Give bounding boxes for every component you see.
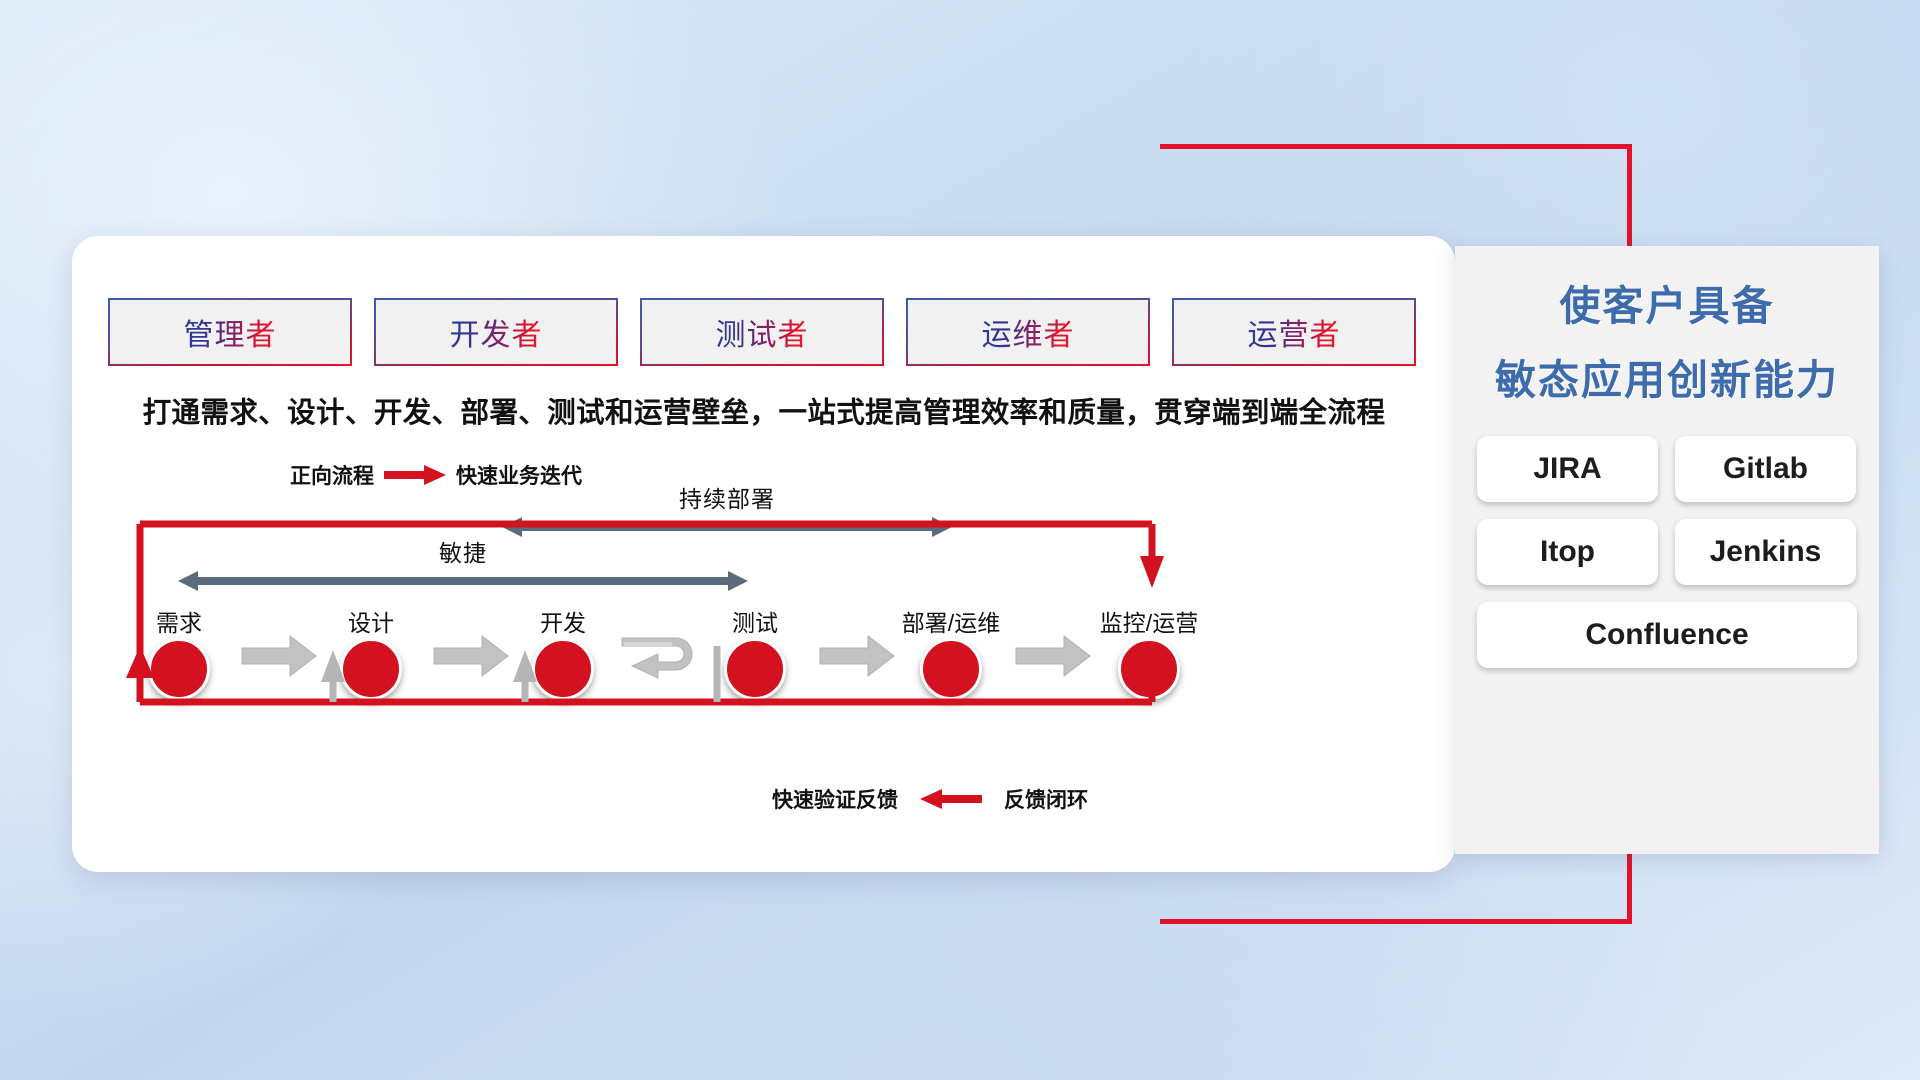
feedback-annotation: 快速验证反馈 反馈闭环 (772, 784, 1088, 814)
tool-chip-confluence[interactable]: Confluence (1477, 602, 1857, 668)
node-dot (532, 638, 594, 700)
pipeline-node-design[interactable]: 设计 (332, 638, 410, 700)
role-box-row: 管理者 开发者 测试者 运维者 运营者 (108, 298, 1416, 366)
pipeline-node-requirements[interactable]: 需求 (140, 638, 218, 700)
tool-chip-gitlab[interactable]: Gitlab (1675, 436, 1856, 502)
role-box-ops[interactable]: 运维者 (906, 298, 1150, 366)
loop-arrow-uturn-icon (618, 626, 714, 690)
node-dot (920, 638, 982, 700)
tool-chip-grid: JIRA Gitlab Itop Jenkins Confluence (1477, 436, 1857, 668)
node-dot (724, 638, 786, 700)
tool-chip-jenkins[interactable]: Jenkins (1675, 519, 1856, 585)
pipeline-node-testing[interactable]: 测试 (716, 638, 794, 700)
pipeline-node-monitor-operations[interactable]: 监控/运营 (1110, 638, 1188, 700)
main-diagram-card: 管理者 开发者 测试者 运维者 运营者 打通需求、设计、开发、部署、测试和运营壁… (72, 236, 1455, 872)
pipeline-node-development[interactable]: 开发 (524, 638, 602, 700)
node-dot (1118, 638, 1180, 700)
node-label: 设计 (348, 604, 394, 638)
span-agile: 敏捷 (178, 534, 748, 597)
double-arrow-horizontal-icon (178, 570, 748, 592)
node-label: 部署/运维 (902, 604, 1000, 638)
arrow-left-red-icon (920, 789, 982, 809)
tool-chip-jira[interactable]: JIRA (1477, 436, 1658, 502)
span-label: 持续部署 (502, 480, 952, 514)
role-box-developer[interactable]: 开发者 (374, 298, 618, 366)
panel-title-line-1: 使客户具备 (1455, 272, 1879, 332)
node-label: 开发 (540, 604, 586, 638)
arrow-right-red-icon (384, 465, 446, 485)
span-label: 敏捷 (178, 534, 748, 568)
tool-chip-itop[interactable]: Itop (1477, 519, 1658, 585)
panel-title-line-2: 敏态应用创新能力 (1455, 346, 1879, 406)
role-box-operations[interactable]: 运营者 (1172, 298, 1416, 366)
node-label: 测试 (732, 604, 778, 638)
pipeline-row: 需求 设计 开发 测试 部署/运维 (112, 614, 1412, 744)
forward-flow-left-label: 正向流程 (290, 460, 374, 490)
node-dot (340, 638, 402, 700)
role-box-tester[interactable]: 测试者 (640, 298, 884, 366)
node-label: 需求 (156, 604, 202, 638)
role-label: 管理者 (184, 310, 277, 354)
pipeline-node-deploy-ops[interactable]: 部署/运维 (912, 638, 990, 700)
headline-text: 打通需求、设计、开发、部署、测试和运营壁垒，一站式提高管理效率和质量，贯穿端到端… (114, 390, 1414, 431)
block-arrow-right-icon (432, 634, 510, 678)
role-label: 测试者 (716, 310, 809, 354)
panel-title: 使客户具备 敏态应用创新能力 (1455, 272, 1879, 406)
feedback-right-label: 反馈闭环 (1004, 784, 1088, 814)
role-label: 运营者 (1248, 310, 1341, 354)
block-arrow-right-icon (240, 634, 318, 678)
feedback-left-label: 快速验证反馈 (772, 784, 898, 814)
block-arrow-right-icon (1014, 634, 1092, 678)
role-box-manager[interactable]: 管理者 (108, 298, 352, 366)
role-label: 运维者 (982, 310, 1075, 354)
outcome-panel: 使客户具备 敏态应用创新能力 JIRA Gitlab Itop Jenkins … (1455, 246, 1879, 854)
node-dot (148, 638, 210, 700)
node-label: 监控/运营 (1100, 604, 1198, 638)
role-label: 开发者 (450, 310, 543, 354)
block-arrow-right-icon (818, 634, 896, 678)
